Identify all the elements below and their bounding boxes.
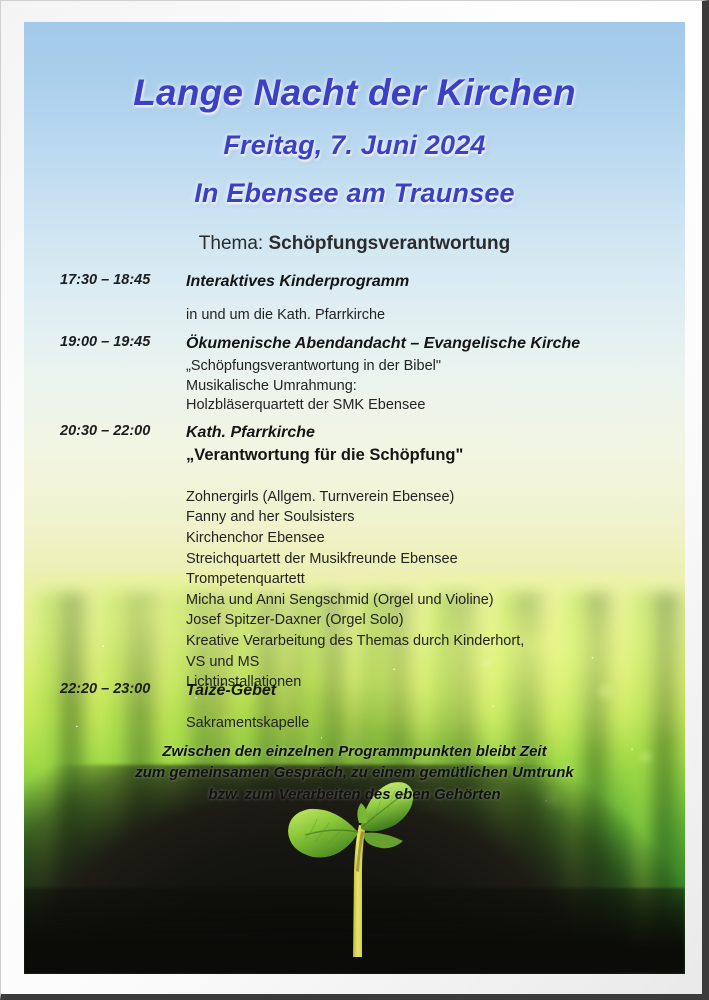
program-time: 20:30 – 22:00 xyxy=(60,423,184,439)
program-detail-line: in und um die Kath. Pfarrkirche xyxy=(186,306,665,325)
program-detail-line: Sakramentskapelle xyxy=(186,714,665,733)
poster-canvas: Lange Nacht der Kirchen Freitag, 7. Juni… xyxy=(24,22,685,974)
poster-text-content: Lange Nacht der Kirchen Freitag, 7. Juni… xyxy=(24,22,685,974)
performer-list: Zohnergirls (Allgem. Turnverein Ebensee)… xyxy=(186,487,665,693)
list-item: Josef Spitzer-Daxner (Orgel Solo) xyxy=(186,610,665,631)
poster-location: In Ebensee am Traunsee xyxy=(24,178,685,209)
theme-value: Schöpfungsverantwortung xyxy=(268,233,510,254)
closing-line: bzw. zum Verarbeiten des eben Gehörten xyxy=(24,784,685,805)
program-body: Ökumenische Abendandacht – Evangelische … xyxy=(186,334,665,415)
program-detail-line: Musikalische Umrahmung: xyxy=(186,377,665,396)
program-time: 17:30 – 18:45 xyxy=(60,272,184,288)
program-detail-line: Holzbläserquartett der SMK Ebensee xyxy=(186,396,665,415)
list-item: Trompetenquartett xyxy=(186,569,665,590)
list-item: Kirchenchor Ebensee xyxy=(186,528,665,549)
poster-title: Lange Nacht der Kirchen xyxy=(24,72,685,114)
closing-line: Zwischen den einzelnen Programmpunkten b… xyxy=(24,741,685,762)
list-item: Micha und Anni Sengschmid (Orgel und Vio… xyxy=(186,590,665,611)
program-heading: Interaktives Kinderprogramm xyxy=(186,272,665,292)
program-body: Taizé-Gebet Sakramentskapelle xyxy=(186,681,665,734)
list-item: Fanny and her Soulsisters xyxy=(186,507,665,528)
program-detail-line: „Schöpfungsverantwortung in der Bibel" xyxy=(186,357,665,376)
list-item: Streichquartett der Musikfreunde Ebensee xyxy=(186,549,665,570)
program-time: 22:20 – 23:00 xyxy=(60,681,184,697)
program-body: Interaktives Kinderprogramm in und um di… xyxy=(186,272,665,326)
list-item: Zohnergirls (Allgem. Turnverein Ebensee) xyxy=(186,487,665,508)
poster-date: Freitag, 7. Juni 2024 xyxy=(24,130,685,161)
program-heading: Taizé-Gebet xyxy=(186,681,665,701)
list-item: VS und MS xyxy=(186,652,665,673)
theme-line: Thema: Schöpfungsverantwortung xyxy=(24,233,685,255)
closing-line: zum gemeinsamen Gespräch, zu einem gemüt… xyxy=(24,762,685,783)
closing-note: Zwischen den einzelnen Programmpunkten b… xyxy=(24,741,685,805)
list-item: Kreative Verarbeitung des Themas durch K… xyxy=(186,631,665,652)
program-heading: Kath. Pfarrkirche xyxy=(186,423,665,443)
program-heading: Ökumenische Abendandacht – Evangelische … xyxy=(186,334,665,354)
poster-frame: Lange Nacht der Kirchen Freitag, 7. Juni… xyxy=(0,0,709,1000)
program-subheading: „Verantwortung für die Schöpfung" xyxy=(186,445,665,466)
program-body: Kath. Pfarrkirche „Verantwortung für die… xyxy=(186,423,665,693)
program-time: 19:00 – 19:45 xyxy=(60,334,184,350)
theme-label: Thema: xyxy=(199,233,263,254)
